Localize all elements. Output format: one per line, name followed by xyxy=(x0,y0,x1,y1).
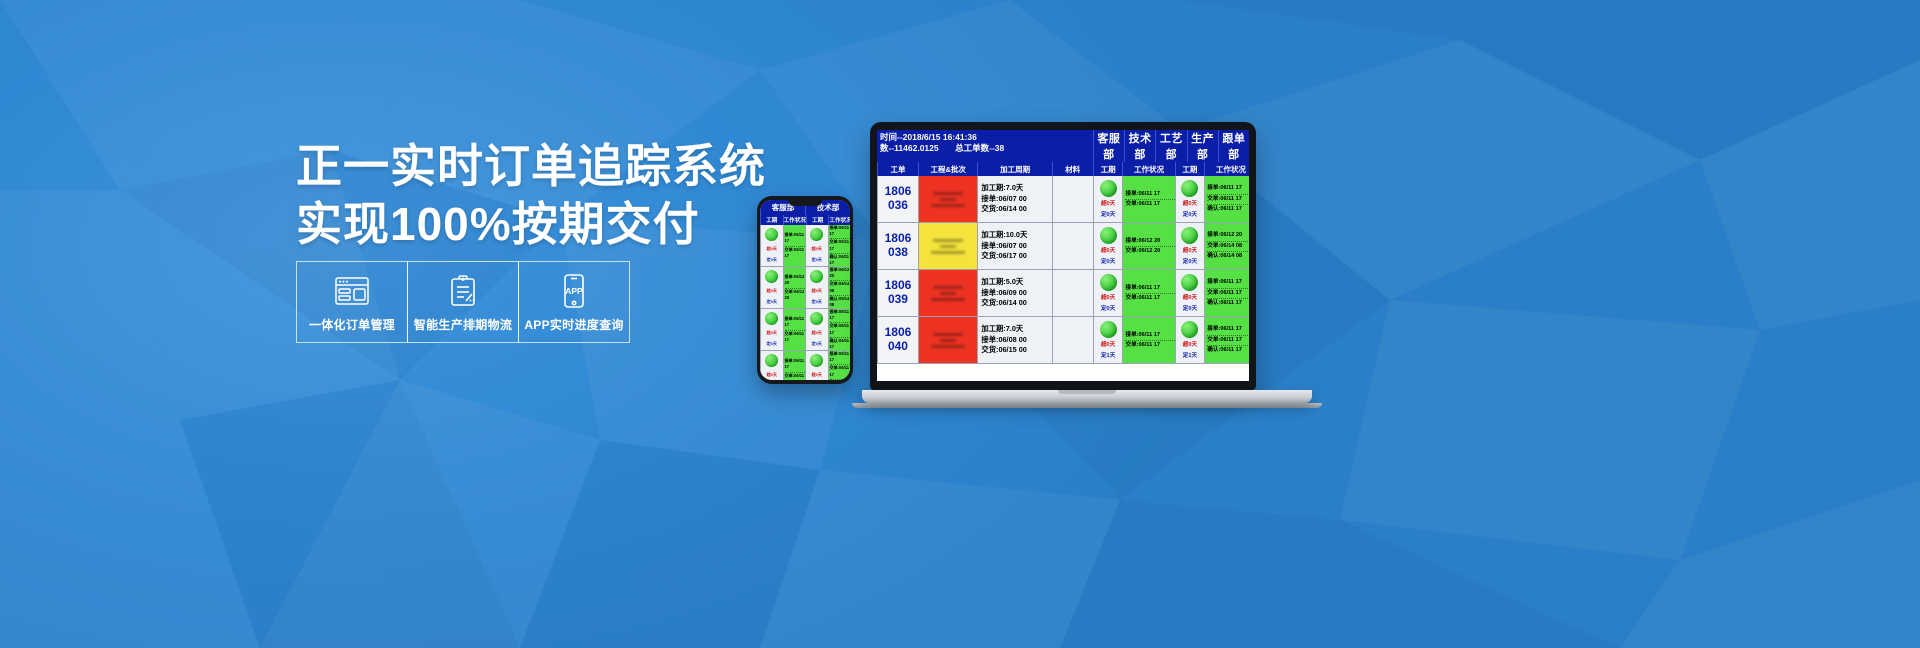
cycle-line: 交货:06/17 00 xyxy=(981,251,1051,262)
phone-mockup: 客服部 技术部 工期 工作状况 工期 工作状况 超0天定0天接单:06/11 1… xyxy=(757,196,853,384)
status-dot-green xyxy=(765,228,778,241)
scheduled-tag: 定0天 xyxy=(1183,259,1197,265)
phone-duration-cell: 超0天定0天 xyxy=(805,267,828,308)
status-dot-green xyxy=(1100,321,1117,338)
work-order-cell: 1806036 xyxy=(877,176,918,222)
phone-screen: 客服部 技术部 工期 工作状况 工期 工作状况 超0天定0天接单:06/11 1… xyxy=(760,200,850,380)
duration-cell: 超0天定0天 xyxy=(1175,176,1205,222)
phone-status-cell: 接单:06/11 17交单:06/11 17 xyxy=(783,351,806,380)
scheduled-tag: 定0天 xyxy=(812,257,822,263)
headline-line-1: 正一实时订单追踪系统 xyxy=(296,138,856,196)
col-project-batch: 工程&批次 xyxy=(918,162,978,176)
overdue-tag: 超0天 xyxy=(767,372,777,378)
department-header-row: 客服部 技术部 工艺部 生产部 跟单部 xyxy=(1093,130,1249,162)
status-dot-green xyxy=(1181,180,1198,197)
scheduled-tag: 定0天 xyxy=(767,299,777,305)
status-cell: 接单:06/11 17交单:06/11 17 xyxy=(1122,176,1174,222)
scheduled-tag: 定0天 xyxy=(812,341,822,347)
cycle-line: 加工期:10.0天 xyxy=(981,230,1051,241)
status-line: 交单:06/11 17 xyxy=(1207,195,1249,205)
status-cell: 接单:06/11 17交单:06/11 17确认:06/11 17 xyxy=(1204,270,1249,316)
feature-label: APP实时进度查询 xyxy=(524,316,623,333)
dashboard-header: 时间--2018/6/15 16:41:36 数--11462.0125 总工单… xyxy=(877,130,1249,162)
dept-gendan: 跟单部 xyxy=(1218,130,1249,162)
status-dot-green xyxy=(765,312,778,325)
phone-col-status-1: 工作状况 xyxy=(783,215,806,225)
mobile-app-icon: APP xyxy=(562,273,586,309)
material-cell xyxy=(1052,317,1093,363)
status-line: 确认:06/14 08 xyxy=(1207,252,1249,260)
status-line: 接单:06/11 17 xyxy=(830,225,851,239)
laptop-mockup: 时间--2018/6/15 16:41:36 数--11462.0125 总工单… xyxy=(862,122,1312,408)
clipboard-icon xyxy=(449,273,477,309)
cycle-line: 加工期:5.0天 xyxy=(981,277,1051,288)
phone-duration-cell: 超0天定0天 xyxy=(805,309,828,350)
scheduled-tag: 定0天 xyxy=(1183,212,1197,218)
status-line: 接单:06/11 17 xyxy=(1125,284,1174,294)
status-dot-green xyxy=(1100,180,1117,197)
phone-table-row[interactable]: 超0天定0天接单:06/11 17交单:06/11 17超0天定0天接单:06/… xyxy=(760,309,850,351)
dept-gongyi: 工艺部 xyxy=(1155,130,1186,162)
status-dot-green xyxy=(810,312,823,325)
status-line: 交单:06/11 17 xyxy=(1125,341,1174,349)
col-cycle: 加工周期 xyxy=(977,162,1051,176)
status-dot-green xyxy=(810,354,823,367)
status-line: 交单:06/11 17 xyxy=(1125,294,1174,302)
work-order-prefix: 1806 xyxy=(885,326,912,340)
dept-jishu: 技术部 xyxy=(1124,130,1155,162)
overdue-tag: 超0天 xyxy=(812,288,822,294)
status-line: 交单:06/11 17 xyxy=(830,239,851,253)
feature-label: 一体化订单管理 xyxy=(309,316,395,333)
status-cell: 接单:06/11 17交单:06/11 17 xyxy=(1122,317,1174,363)
scheduled-tag: 定0天 xyxy=(1101,212,1115,218)
overdue-tag: 超0天 xyxy=(1183,248,1197,254)
cycle-line: 接单:06/08 00 xyxy=(981,335,1051,346)
status-line: 交单:06/11 17 xyxy=(830,365,851,379)
status-line: 确认:06/11 17 xyxy=(1207,205,1249,213)
status-line: 接单:06/12 20 xyxy=(830,267,851,281)
status-line: 接单:06/11 17 xyxy=(785,316,806,330)
cycle-cell: 加工期:10.0天接单:06/07 00交货:06/17 00 xyxy=(977,223,1051,269)
work-order-prefix: 1806 xyxy=(885,232,912,246)
cycle-line: 交货:06/15 00 xyxy=(981,345,1051,356)
feature-app-progress-query[interactable]: APP APP实时进度查询 xyxy=(518,261,630,343)
phone-table-body: 超0天定0天接单:06/11 17交单:06/11 17超0天定0天接单:06/… xyxy=(760,225,850,380)
overdue-tag: 超0天 xyxy=(1101,201,1115,207)
status-line: 接单:06/11 17 xyxy=(1125,190,1174,200)
phone-duration-cell: 超0天定0天 xyxy=(760,225,783,266)
duration-cell: 超0天定0天 xyxy=(1093,176,1123,222)
overdue-tag: 超0天 xyxy=(1101,295,1115,301)
status-cell: 接单:06/11 17交单:06/11 17 xyxy=(1122,270,1174,316)
phone-duration-cell: 超0天定0天 xyxy=(760,267,783,308)
overdue-tag: 超0天 xyxy=(1183,295,1197,301)
status-line: 交单:06/11 17 xyxy=(785,331,806,343)
status-dot-green xyxy=(1181,274,1198,291)
status-line: 交单:06/11 17 xyxy=(1207,336,1249,346)
cycle-cell: 加工期:7.0天接单:06/08 00交货:06/15 00 xyxy=(977,317,1051,363)
project-batch-cell xyxy=(918,223,978,269)
col-status-2: 工作状况 xyxy=(1204,162,1249,176)
duration-cell: 超0天定1天 xyxy=(1175,317,1205,363)
material-cell xyxy=(1052,270,1093,316)
phone-table-row[interactable]: 超0天定0天接单:06/12 20交单:06/12 20超0天定0天接单:06/… xyxy=(760,267,850,309)
scheduled-tag: 定0天 xyxy=(1101,306,1115,312)
scheduled-tag: 定0天 xyxy=(767,257,777,263)
col-duration-1: 工期 xyxy=(1093,162,1123,176)
cycle-line: 接单:06/09 00 xyxy=(981,288,1051,299)
status-line: 确认:06/11 17 xyxy=(1207,346,1249,354)
phone-table-row[interactable]: 超0天定0天接单:06/11 17交单:06/11 17超0天定4天接单:06/… xyxy=(760,351,850,380)
phone-status-cell: 接单:06/11 17交单:06/11 17 xyxy=(783,309,806,350)
cycle-cell: 加工期:7.0天接单:06/07 00交货:06/14 00 xyxy=(977,176,1051,222)
duration-cell: 超0天定0天 xyxy=(1093,223,1123,269)
overdue-tag: 超0天 xyxy=(1101,342,1115,348)
status-cell: 接单:06/11 17交单:06/11 17确认:06/11 17 xyxy=(1204,176,1249,222)
work-order-cell: 1806039 xyxy=(877,270,918,316)
status-dot-green xyxy=(1181,227,1198,244)
order-tracking-dashboard: 时间--2018/6/15 16:41:36 数--11462.0125 总工单… xyxy=(877,130,1249,381)
phone-duration-cell: 超0天定0天 xyxy=(760,351,783,380)
dashboard-total-orders: 总工单数--38 xyxy=(955,143,1004,153)
phone-duration-cell: 超0天定4天 xyxy=(805,351,828,380)
status-line: 交单:06/11 17 xyxy=(785,373,806,381)
overdue-tag: 超0天 xyxy=(1183,201,1197,207)
dept-kefu: 客服部 xyxy=(1093,130,1124,162)
work-order-suffix: 038 xyxy=(888,246,908,260)
status-line: 接单:06/11 17 xyxy=(1207,184,1249,194)
duration-cell: 超0天定0天 xyxy=(1175,270,1205,316)
phone-col-duration-1: 工期 xyxy=(760,215,783,225)
status-line: 交单:06/11 17 xyxy=(785,247,806,259)
status-line: 接单:06/11 17 xyxy=(830,309,851,323)
hero-banner: 正一实时订单追踪系统 实现100%按期交付 一体化订单管理 xyxy=(0,0,1920,648)
status-line: 接单:06/11 17 xyxy=(785,232,806,246)
work-order-cell: 1806040 xyxy=(877,317,918,363)
overdue-tag: 超0天 xyxy=(767,330,777,336)
phone-status-cell: 接单:06/11 17交单:06/11 17 xyxy=(783,225,806,266)
status-cell: 接单:06/11 17交单:06/11 17确认:06/11 17 xyxy=(1204,317,1249,363)
status-line: 交单:06/11 17 xyxy=(1125,200,1174,208)
column-header-row: 工单 工程&批次 加工周期 材料 工期 工作状况 工期 工作状况 xyxy=(877,162,1249,176)
phone-status-cell: 接单:06/11 17交单:06/11 17确认:06/11 17 xyxy=(828,225,851,266)
cycle-line: 接单:06/07 00 xyxy=(981,194,1051,205)
cycle-line: 接单:06/07 00 xyxy=(981,241,1051,252)
phone-col-status-2: 工作状况 xyxy=(828,215,850,225)
feature-order-management[interactable]: 一体化订单管理 xyxy=(296,261,408,343)
status-line: 确认:06/11 17 xyxy=(830,338,851,350)
scheduled-tag: 定1天 xyxy=(1183,353,1197,359)
dashboard-count: 数--11462.0125 xyxy=(880,143,939,153)
status-line: 交单:06/12 20 xyxy=(785,289,806,301)
dept-shengchan: 生产部 xyxy=(1187,130,1218,162)
status-dot-green xyxy=(765,270,778,283)
table-row[interactable]: 1806036加工期:7.0天接单:06/07 00交货:06/14 00超0天… xyxy=(877,176,1249,223)
overdue-tag: 超0天 xyxy=(1183,342,1197,348)
status-dot-green xyxy=(1100,227,1117,244)
phone-status-cell: 接单:06/12 20交单:06/12 20 xyxy=(783,267,806,308)
phone-duration-cell: 超0天定0天 xyxy=(805,225,828,266)
duration-cell: 超0天定0天 xyxy=(1175,223,1205,269)
feature-list: 一体化订单管理 智能生产排期物流 xyxy=(296,261,630,343)
col-status-1: 工作状况 xyxy=(1122,162,1174,176)
col-material: 材料 xyxy=(1052,162,1093,176)
scheduled-tag: 定0天 xyxy=(1183,306,1197,312)
status-line: 接单:06/11 17 xyxy=(1207,278,1249,288)
work-order-suffix: 039 xyxy=(888,293,908,307)
status-line: 接单:06/11 17 xyxy=(1207,325,1249,335)
laptop-screen: 时间--2018/6/15 16:41:36 数--11462.0125 总工单… xyxy=(877,130,1249,381)
status-dot-green xyxy=(810,270,823,283)
cycle-line: 加工期:7.0天 xyxy=(981,324,1051,335)
status-line: 交单:06/14 08 xyxy=(1207,242,1249,252)
status-line: 确认:06/11 17 xyxy=(1207,299,1249,307)
status-line: 接单:06/11 17 xyxy=(785,358,806,372)
status-line: 确认:06/11 17 xyxy=(830,254,851,266)
status-dot-green xyxy=(765,354,778,367)
project-batch-cell xyxy=(918,176,978,222)
work-order-cell: 1806038 xyxy=(877,223,918,269)
phone-col-duration-2: 工期 xyxy=(806,215,829,225)
status-line: 接单:06/12 20 xyxy=(785,274,806,288)
phone-status-cell: 接单:06/11 17交单:06/11 17确认:06/11 17 xyxy=(828,351,851,380)
scheduled-tag: 定0天 xyxy=(1101,259,1115,265)
status-dot-green xyxy=(810,228,823,241)
phone-column-header: 工期 工作状况 工期 工作状况 xyxy=(760,215,850,225)
table-row[interactable]: 1806040加工期:7.0天接单:06/08 00交货:06/15 00超0天… xyxy=(877,317,1249,364)
overdue-tag: 超0天 xyxy=(812,246,822,252)
status-line: 接单:06/12 20 xyxy=(1125,237,1174,247)
app-badge-text: APP xyxy=(565,286,583,296)
col-work-order: 工单 xyxy=(877,162,918,176)
status-dot-green xyxy=(1100,274,1117,291)
overdue-tag: 超0天 xyxy=(812,372,822,378)
work-order-suffix: 036 xyxy=(888,199,908,213)
overdue-tag: 超0天 xyxy=(812,330,822,336)
phone-status-cell: 接单:06/11 17交单:06/11 17确认:06/11 17 xyxy=(828,309,851,350)
status-cell: 接单:06/12 20交单:06/14 08确认:06/14 08 xyxy=(1204,223,1249,269)
laptop-lid: 时间--2018/6/15 16:41:36 数--11462.0125 总工单… xyxy=(870,122,1256,390)
status-cell: 接单:06/12 20交单:06/12 20 xyxy=(1122,223,1174,269)
status-line: 确认:06/14 08 xyxy=(830,296,851,308)
material-cell xyxy=(1052,223,1093,269)
feature-label: 智能生产排期物流 xyxy=(414,316,512,333)
laptop-base-lip xyxy=(852,403,1322,408)
scheduled-tag: 定0天 xyxy=(812,299,822,305)
status-line: 交单:06/11 17 xyxy=(1207,289,1249,299)
status-line: 交单:06/12 20 xyxy=(1125,247,1174,255)
col-duration-2: 工期 xyxy=(1175,162,1205,176)
phone-dashboard: 客服部 技术部 工期 工作状况 工期 工作状况 超0天定0天接单:06/11 1… xyxy=(760,200,850,380)
feature-production-scheduling[interactable]: 智能生产排期物流 xyxy=(407,261,519,343)
status-line: 交单:06/11 17 xyxy=(830,323,851,337)
cycle-cell: 加工期:5.0天接单:06/09 00交货:06/14 00 xyxy=(977,270,1051,316)
overdue-tag: 超0天 xyxy=(767,246,777,252)
work-order-suffix: 040 xyxy=(888,340,908,354)
work-order-prefix: 1806 xyxy=(885,279,912,293)
status-dot-green xyxy=(1181,321,1198,338)
laptop-base xyxy=(862,390,1312,403)
scheduled-tag: 定1天 xyxy=(1101,353,1115,359)
phone-status-cell: 接单:06/12 20交单:06/14 08确认:06/14 08 xyxy=(828,267,851,308)
cycle-line: 加工期:7.0天 xyxy=(981,183,1051,194)
overdue-tag: 超0天 xyxy=(767,288,777,294)
table-row[interactable]: 1806039加工期:5.0天接单:06/09 00交货:06/14 00超0天… xyxy=(877,270,1249,317)
dashboard-table-body: 1806036加工期:7.0天接单:06/07 00交货:06/14 00超0天… xyxy=(877,176,1249,364)
project-batch-cell xyxy=(918,270,978,316)
status-line: 交单:06/14 08 xyxy=(830,281,851,295)
duration-cell: 超0天定1天 xyxy=(1093,317,1123,363)
work-order-prefix: 1806 xyxy=(885,185,912,199)
cycle-line: 交货:06/14 00 xyxy=(981,204,1051,215)
duration-cell: 超0天定0天 xyxy=(1093,270,1123,316)
project-batch-cell xyxy=(918,317,978,363)
status-line: 接单:06/12 20 xyxy=(1207,231,1249,241)
table-row[interactable]: 1806038加工期:10.0天接单:06/07 00交货:06/17 00超0… xyxy=(877,223,1249,270)
cycle-line: 交货:06/14 00 xyxy=(981,298,1051,309)
dashboard-info: 时间--2018/6/15 16:41:36 数--11462.0125 总工单… xyxy=(877,130,1093,162)
phone-notch xyxy=(788,200,822,206)
dashboard-time: 时间--2018/6/15 16:41:36 xyxy=(880,132,1090,143)
phone-table-row[interactable]: 超0天定0天接单:06/11 17交单:06/11 17超0天定0天接单:06/… xyxy=(760,225,850,267)
phone-duration-cell: 超0天定0天 xyxy=(760,309,783,350)
scheduled-tag: 定0天 xyxy=(767,341,777,347)
overdue-tag: 超0天 xyxy=(1101,248,1115,254)
material-cell xyxy=(1052,176,1093,222)
status-line: 接单:06/11 17 xyxy=(1125,331,1174,341)
order-window-icon xyxy=(335,273,369,309)
status-line: 接单:06/11 17 xyxy=(830,351,851,365)
